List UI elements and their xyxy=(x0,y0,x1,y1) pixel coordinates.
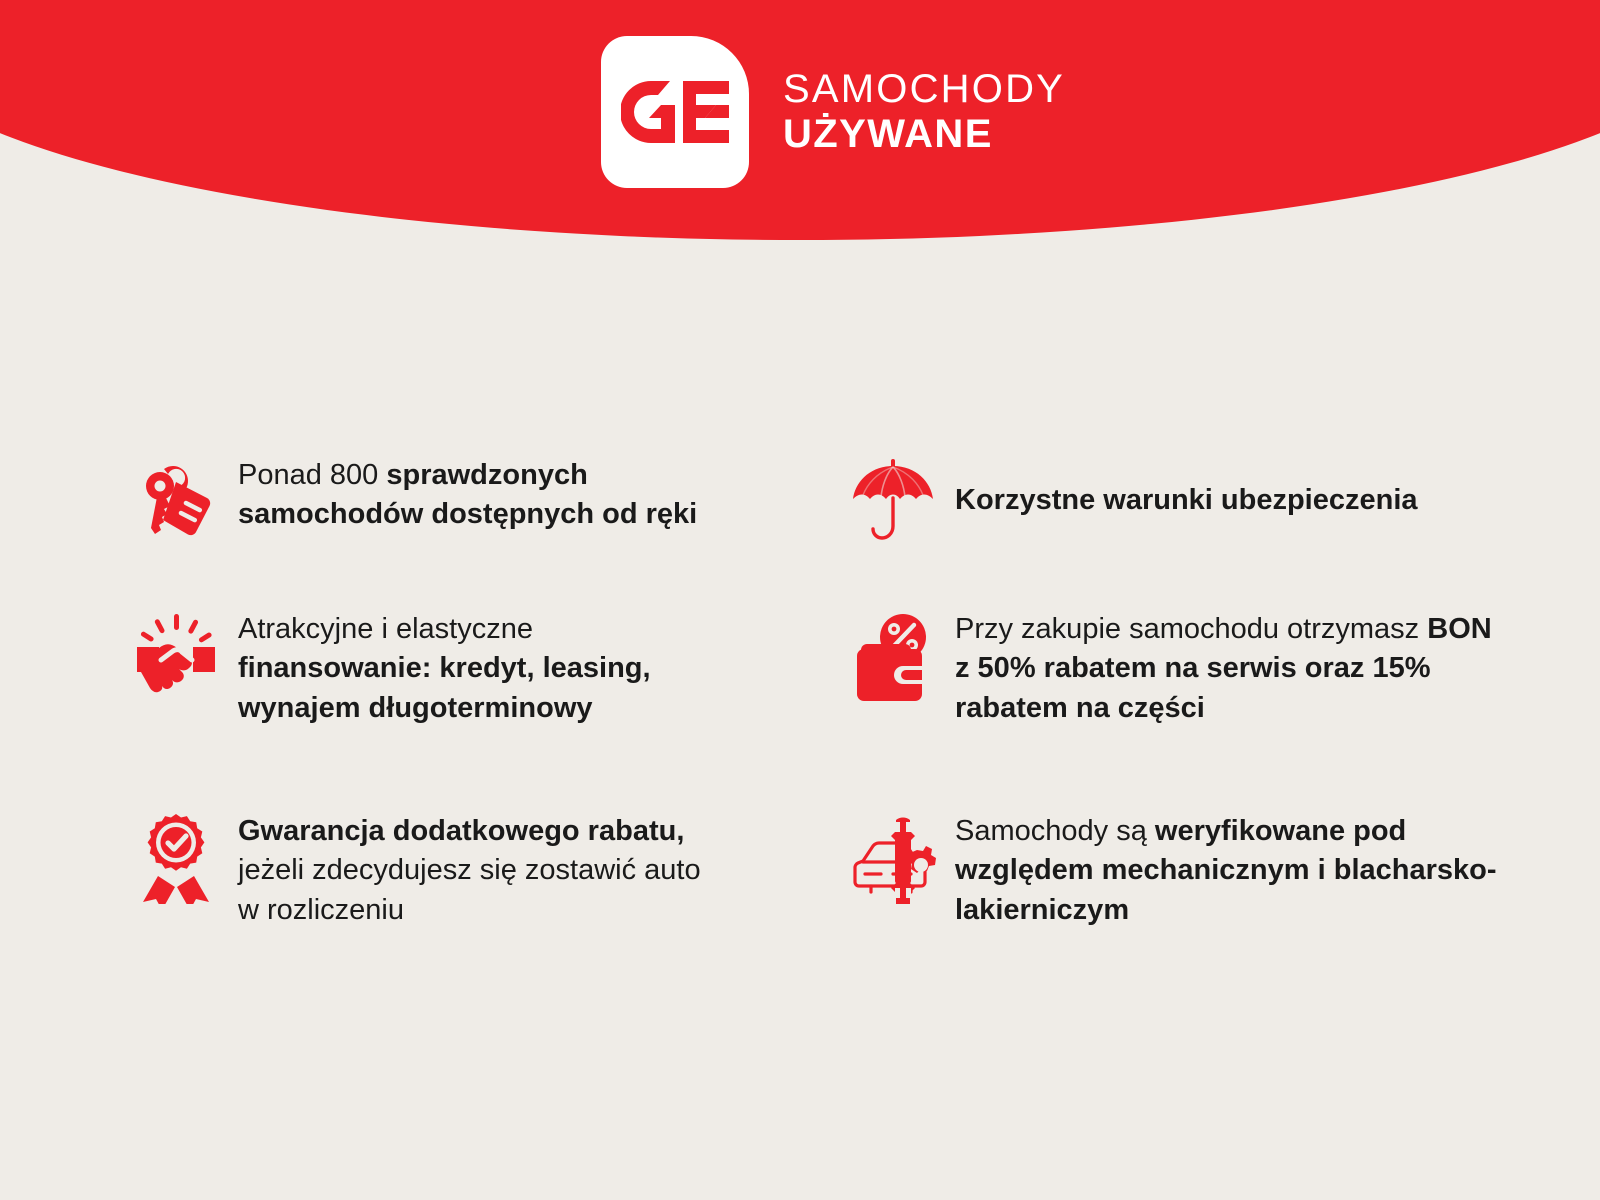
feature-text-bold: Korzystne warunki ubezpieczenia xyxy=(955,484,1418,516)
feature-text: Samochody są weryfikowane pod względem m… xyxy=(941,812,1505,930)
umbrella-icon xyxy=(845,456,941,546)
brand-line-1: SAMOCHODY xyxy=(783,69,1065,110)
feature-item-trade-in-guarantee: Gwarancja dodatkowego rabatu, jeżeli zde… xyxy=(128,812,728,930)
car-wrench-gear-icon xyxy=(845,812,941,904)
feature-text: Korzystne warunki ubezpieczenia xyxy=(941,481,1418,520)
feature-text-regular: jeżeli zdecydujesz się zostawić auto w r… xyxy=(238,854,701,925)
feature-text: Ponad 800 sprawdzonych samochodów dostęp… xyxy=(224,456,728,535)
feature-text-regular: Ponad 800 xyxy=(238,459,386,491)
feature-text: Atrakcyjne i elastyczne finansowanie: kr… xyxy=(224,610,728,728)
car-keys-icon xyxy=(128,456,224,542)
feature-text-regular: Atrakcyjne i elastyczne xyxy=(238,613,533,645)
logo-mark-gb xyxy=(601,36,749,188)
feature-item-insurance: Korzystne warunki ubezpieczenia xyxy=(845,456,1418,546)
feature-text-bold: Gwarancja dodatkowego rabatu, xyxy=(238,815,684,847)
feature-text: Przy zakupie samochodu otrzymasz BON z 5… xyxy=(941,610,1505,728)
feature-text: Gwarancja dodatkowego rabatu, jeżeli zde… xyxy=(224,812,728,930)
feature-item-cars-available: Ponad 800 sprawdzonych samochodów dostęp… xyxy=(128,456,728,542)
feature-item-service-voucher: Przy zakupie samochodu otrzymasz BON z 5… xyxy=(845,610,1505,728)
brand-wordmark: SAMOCHODY UŻYWANE xyxy=(783,69,1065,155)
award-badge-icon xyxy=(128,812,224,904)
feature-text-regular: Przy zakupie samochodu otrzymasz xyxy=(955,613,1427,645)
feature-text-bold: finansowanie: kredyt, leasing, wynajem d… xyxy=(238,652,651,723)
wallet-discount-icon xyxy=(845,610,941,706)
brand-line-2: UŻYWANE xyxy=(783,114,1065,155)
feature-item-financing: Atrakcyjne i elastyczne finansowanie: kr… xyxy=(128,610,728,728)
feature-item-verified-cars: Samochody są weryfikowane pod względem m… xyxy=(845,812,1505,930)
brand-logo[interactable]: SAMOCHODY UŻYWANE xyxy=(601,36,1065,188)
feature-text-regular: Samochody są xyxy=(955,815,1155,847)
handshake-icon xyxy=(128,610,224,696)
